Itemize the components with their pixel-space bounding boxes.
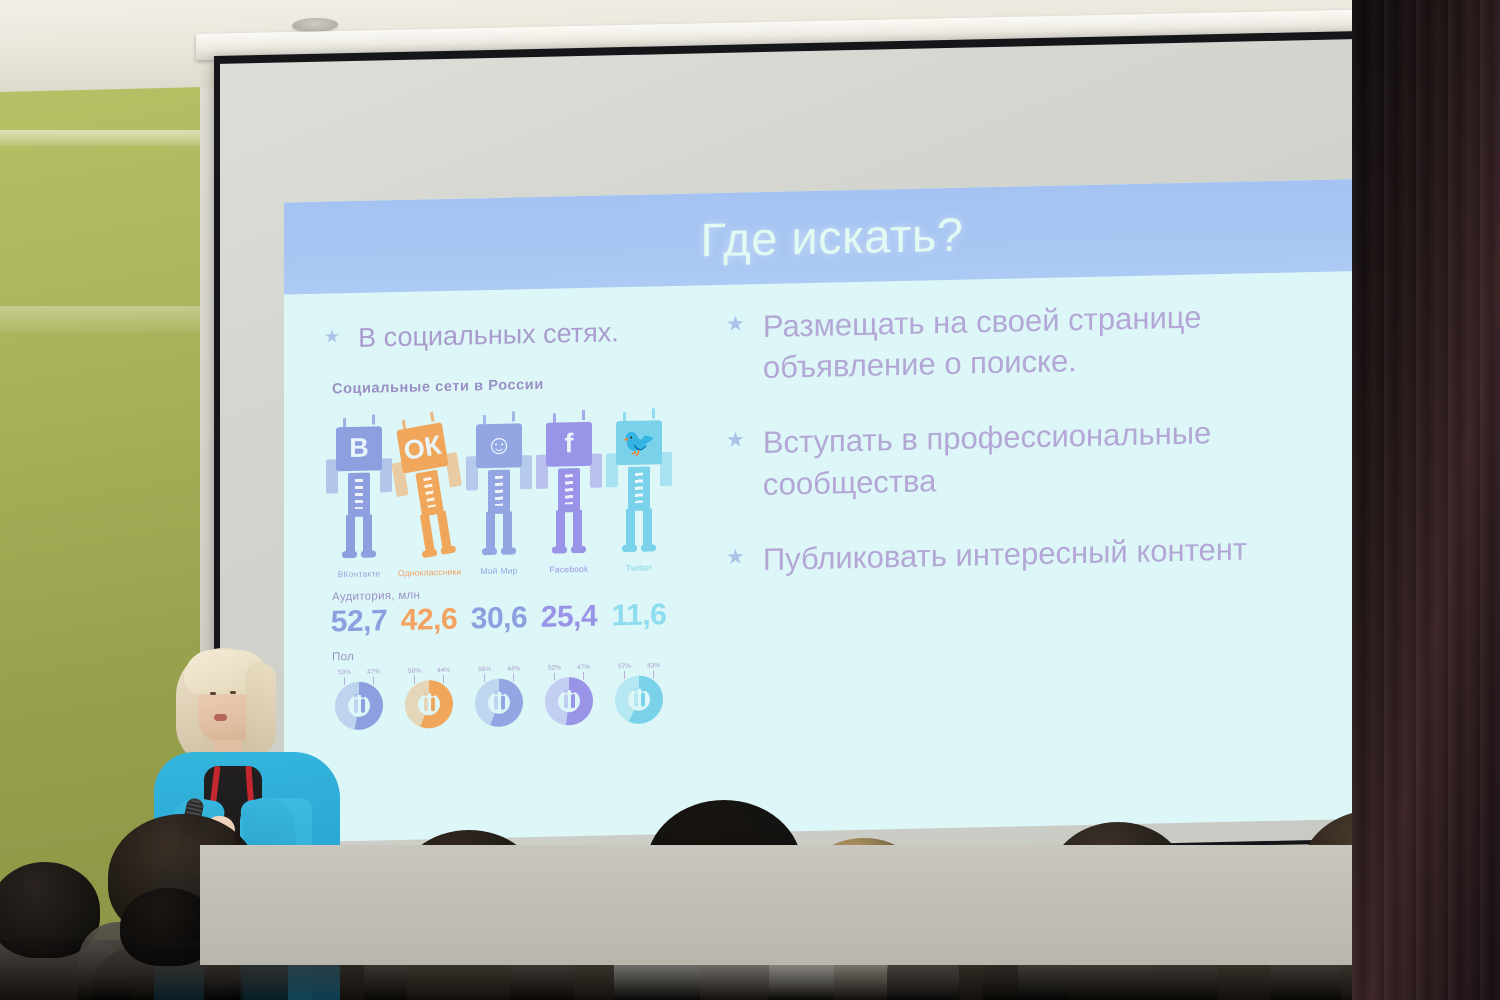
robot-foot-left bbox=[342, 551, 357, 558]
female-icon bbox=[634, 693, 638, 707]
slide-right-column: ★Размещать на своей странице объявление … bbox=[704, 271, 1380, 834]
robot-figures: ВОК☺f🐦 bbox=[324, 399, 704, 567]
network-name: ВКонтакте bbox=[328, 568, 390, 579]
robot-leg-right bbox=[363, 514, 372, 552]
male-icon bbox=[431, 697, 435, 711]
network-logo-icon: ☺ bbox=[476, 423, 522, 468]
male-icon bbox=[641, 693, 645, 707]
projector-screen-surface: Где искать? ★ В социальных сетях. Социал… bbox=[220, 38, 1392, 864]
donut-percent-labels: 56%44% bbox=[408, 667, 450, 675]
gender-icons bbox=[475, 678, 523, 727]
robot-leg-left bbox=[626, 509, 635, 547]
female-percent: 56% bbox=[408, 667, 421, 674]
male-percent: 47% bbox=[367, 668, 380, 675]
male-icon bbox=[571, 694, 575, 708]
speaker-hair-side bbox=[246, 662, 276, 754]
robot-figure-facebook: f bbox=[538, 409, 600, 562]
female-icon bbox=[354, 699, 358, 713]
network-logo-icon: ОК bbox=[396, 422, 448, 473]
robot-arm-right bbox=[520, 455, 532, 489]
robot-body bbox=[415, 470, 444, 517]
male-icon bbox=[501, 696, 505, 710]
gender-icons bbox=[615, 675, 663, 724]
robot-leg-left bbox=[556, 510, 565, 548]
robot-foot-right bbox=[501, 547, 516, 554]
network-name: Одноклассники bbox=[398, 567, 460, 578]
network-name: Facebook bbox=[538, 563, 600, 574]
gender-donut: 52%47% bbox=[538, 663, 600, 725]
male-percent: 43% bbox=[647, 662, 660, 669]
donut-ring bbox=[545, 677, 593, 726]
slide-body: ★ В социальных сетях. Социальные сети в … bbox=[284, 271, 1380, 843]
right-bullet-text: Вступать в профессиональные сообщества bbox=[763, 410, 1350, 505]
infographic-heading: Социальные сети в России bbox=[332, 373, 704, 397]
robot-leg-right bbox=[437, 511, 452, 550]
star-icon: ★ bbox=[726, 312, 745, 336]
gray-wall-lower bbox=[200, 845, 1410, 965]
slide-title: Где искать? bbox=[700, 206, 963, 267]
presentation-photo: Где искать? ★ В социальных сетях. Социал… bbox=[0, 0, 1500, 1000]
male-percent: 44% bbox=[507, 665, 520, 672]
left-bullet: ★ В социальных сетях. bbox=[324, 313, 704, 357]
robot-arm-left bbox=[326, 459, 338, 493]
curtain bbox=[1352, 0, 1500, 1000]
gender-donut-charts: 53%47%56%44%56%44%52%47%57%43% bbox=[324, 661, 704, 730]
robot-leg-left bbox=[420, 514, 435, 553]
female-percent: 52% bbox=[548, 664, 561, 671]
robot-foot-right bbox=[641, 544, 656, 551]
speaker-mouth bbox=[214, 714, 227, 721]
slide: Где искать? ★ В социальных сетях. Социал… bbox=[284, 179, 1380, 843]
robot-foot-left bbox=[482, 548, 497, 555]
robot-leg-right bbox=[573, 510, 582, 548]
right-bullet-3: ★Публиковать интересный контент bbox=[726, 526, 1350, 581]
gender-donut: 57%43% bbox=[608, 662, 670, 724]
robot-leg-left bbox=[346, 515, 355, 553]
audience-value: 52,7 bbox=[328, 604, 390, 639]
speaker-eye-left bbox=[210, 692, 216, 695]
gender-icons bbox=[545, 677, 593, 726]
male-percent: 47% bbox=[577, 664, 590, 671]
audience-values: 52,742,630,625,411,6 bbox=[324, 597, 704, 639]
robot-figure-одноклассники: ОК bbox=[386, 409, 471, 570]
male-percent: 44% bbox=[437, 667, 450, 674]
right-bullet-text: Публиковать интересный контент bbox=[763, 528, 1247, 580]
right-bullet-text: Размещать на своей странице объявление о… bbox=[763, 293, 1350, 388]
star-icon: ★ bbox=[726, 545, 745, 569]
robot-body bbox=[488, 469, 510, 513]
gender-donut: 56%44% bbox=[398, 667, 460, 729]
projector-screen-frame: Где искать? ★ В социальных сетях. Социал… bbox=[214, 30, 1396, 868]
star-icon: ★ bbox=[324, 327, 340, 347]
donut-ring bbox=[615, 675, 663, 724]
female-percent: 57% bbox=[618, 663, 631, 670]
left-bullet-text: В социальных сетях. bbox=[358, 315, 619, 357]
network-logo-icon: В bbox=[336, 426, 382, 471]
donut-ring bbox=[405, 680, 453, 729]
robot-figure-вконтакте: В bbox=[328, 414, 390, 567]
donut-percent-labels: 57%43% bbox=[618, 662, 660, 670]
right-bullet-2: ★Вступать в профессиональные сообщества bbox=[726, 410, 1350, 506]
robot-body bbox=[558, 468, 580, 512]
male-icon bbox=[361, 699, 365, 713]
robot-foot-left bbox=[422, 549, 438, 559]
robot-figure-twitter: 🐦 bbox=[608, 408, 670, 561]
gender-label: Пол bbox=[332, 643, 704, 663]
network-name: Twitter bbox=[608, 562, 670, 573]
female-icon bbox=[564, 694, 568, 708]
robot-arm-right bbox=[590, 453, 602, 487]
robot-arm-left bbox=[466, 456, 478, 490]
robot-leg-right bbox=[643, 508, 652, 546]
gender-donut: 56%44% bbox=[468, 665, 530, 727]
audience-value: 42,6 bbox=[398, 603, 460, 638]
audience-value: 25,4 bbox=[538, 599, 600, 634]
robot-arm-left bbox=[536, 455, 548, 489]
robot-foot-right bbox=[571, 546, 586, 553]
robot-figure-мой мир: ☺ bbox=[468, 411, 530, 564]
female-icon bbox=[424, 697, 428, 711]
gender-icons bbox=[405, 680, 453, 729]
network-logo-icon: f bbox=[546, 422, 592, 467]
robot-arm-left bbox=[606, 453, 618, 487]
robot-arm-right bbox=[660, 452, 672, 486]
right-bullet-1: ★Размещать на своей странице объявление … bbox=[726, 293, 1350, 389]
robot-arm-right bbox=[445, 452, 462, 488]
female-percent: 56% bbox=[478, 666, 491, 673]
robot-foot-right bbox=[361, 550, 376, 557]
robot-body bbox=[628, 466, 650, 510]
robot-arm-right bbox=[380, 458, 392, 492]
audience-value: 30,6 bbox=[468, 601, 530, 636]
network-name: Мой Мир bbox=[468, 565, 530, 576]
infographic: Социальные сети в России ВОК☺f🐦 ВКонтакт… bbox=[324, 373, 704, 730]
robot-body bbox=[348, 473, 370, 517]
robot-foot-left bbox=[552, 546, 567, 553]
robot-leg-left bbox=[486, 512, 495, 550]
audience-value: 11,6 bbox=[608, 598, 670, 633]
star-icon: ★ bbox=[726, 429, 745, 453]
robot-foot-right bbox=[440, 545, 456, 555]
robot-foot-left bbox=[622, 545, 637, 552]
donut-ring bbox=[475, 678, 523, 727]
speaker-eye-right bbox=[230, 691, 236, 694]
network-logo-icon: 🐦 bbox=[616, 420, 662, 465]
donut-percent-labels: 52%47% bbox=[548, 664, 590, 672]
female-icon bbox=[494, 696, 498, 710]
donut-percent-labels: 56%44% bbox=[478, 665, 520, 673]
robot-leg-right bbox=[503, 511, 512, 549]
